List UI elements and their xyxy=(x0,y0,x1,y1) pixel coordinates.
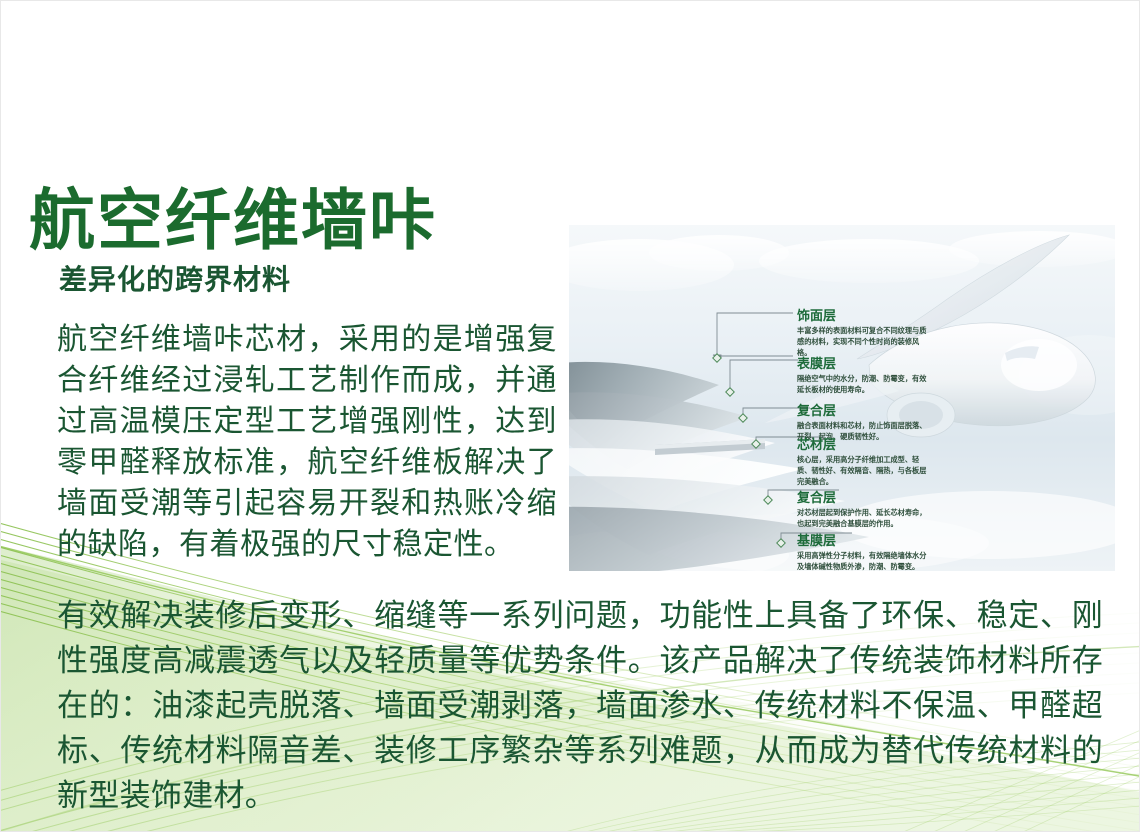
layer-label-4: 复合层 xyxy=(796,490,836,505)
body-paragraph: 有效解决装修后变形、缩缝等一系列问题，功能性上具备了环保、稳定、刚性强度高减震透… xyxy=(57,593,1103,818)
layer-desc-4: 对芯材层起到保护作用、延长芯材寿命，也起到完美融合基膜层的作用。 xyxy=(797,507,927,529)
layer-desc-5-wrap: 采用高弹性分子材料，有效隔绝墙体水分及墙体碱性物质外渗，防潮、防霉变。 xyxy=(797,550,927,571)
figure-callouts: 饰面层 丰富多样的表面材料可复合不同纹理与质感的材料，实现不同个性时尚的装修风格… xyxy=(796,308,927,571)
page-title: 航空纤维墙咔 xyxy=(29,187,437,253)
layer-label-3: 芯材层 xyxy=(797,437,836,452)
layer-label-5: 基膜层 xyxy=(796,533,836,548)
poster-canvas: 航空纤维墙咔 差异化的跨界材料 航空纤维墙咔芯材，采用的是增强复合纤维经过浸轧工… xyxy=(0,0,1140,832)
layer-desc-1: 隔绝空气中的水分，防潮、防霉变，有效延长板材的使用寿命。 xyxy=(797,373,927,395)
layer-desc-0: 丰富多样的表面材料可复合不同纹理与质感的材料，实现不同个性时尚的装修风格。 xyxy=(797,325,927,358)
page-subtitle: 差异化的跨界材料 xyxy=(59,265,437,296)
layer-desc-5: 采用高弹性分子材料，有效隔绝墙体水分及墙体碱性物质外渗，防潮、防霉变。 xyxy=(797,550,927,571)
layer-desc-1-wrap: 隔绝空气中的水分，防潮、防霉变，有效延长板材的使用寿命。 xyxy=(797,373,927,407)
layer-label-1: 表膜层 xyxy=(796,356,836,371)
layer-label-0: 饰面层 xyxy=(797,308,836,323)
headline-block: 航空纤维墙咔 差异化的跨界材料 xyxy=(29,187,437,296)
product-structure-figure: 饰面层 丰富多样的表面材料可复合不同纹理与质感的材料，实现不同个性时尚的装修风格… xyxy=(569,225,1115,571)
layer-desc-3: 核心层，采用高分子纤维加工成型、轻质、韧性好、有效隔音、隔热，与各板层完美融合。 xyxy=(797,454,927,487)
figure-svg: 饰面层 丰富多样的表面材料可复合不同纹理与质感的材料，实现不同个性时尚的装修风格… xyxy=(569,225,1115,571)
lead-paragraph: 航空纤维墙咔芯材，采用的是增强复合纤维经过浸轧工艺制作而成，并通过高温模压定型工… xyxy=(57,319,557,565)
layer-label-2: 复合层 xyxy=(796,403,836,418)
